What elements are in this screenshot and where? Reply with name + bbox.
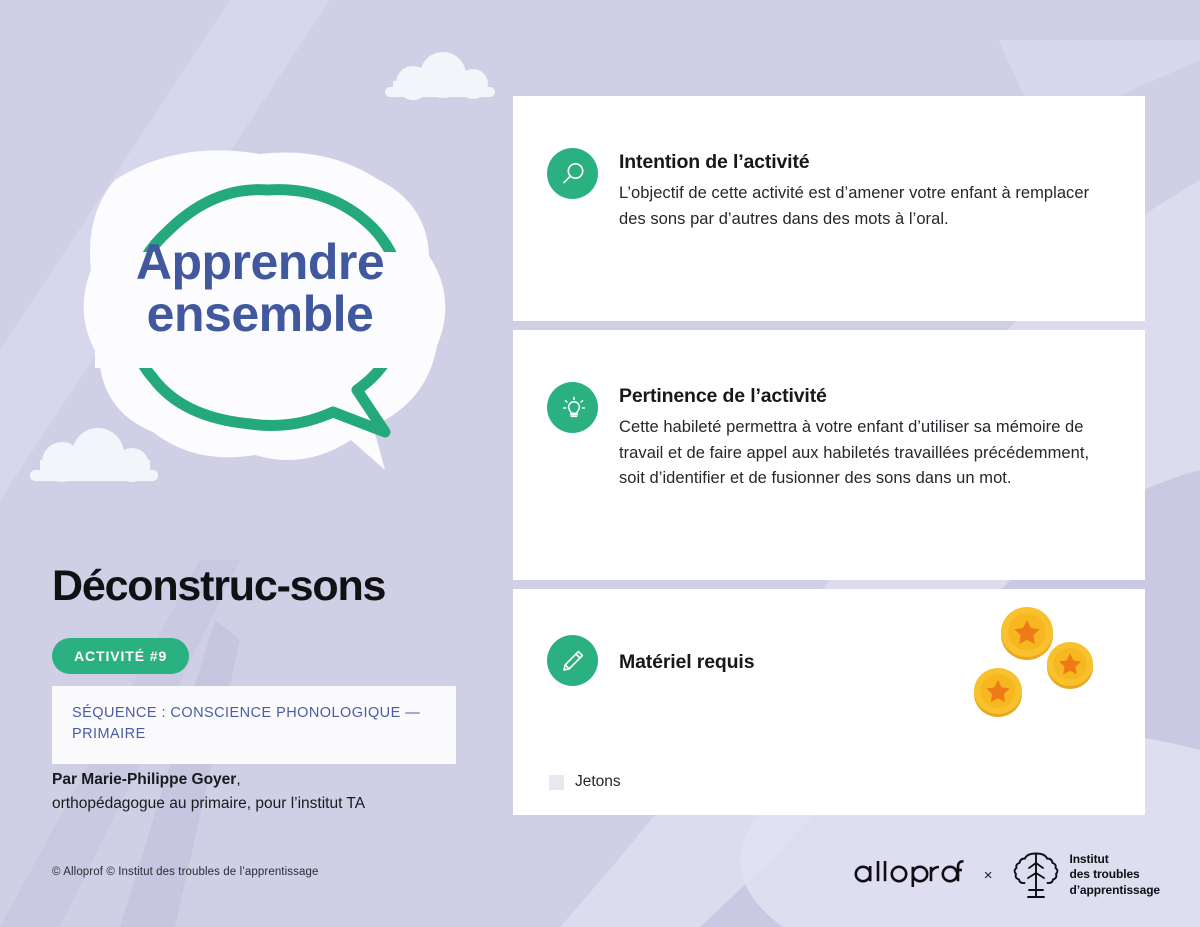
author-comma: , — [236, 771, 240, 788]
card-title: Pertinence de l’activité — [619, 385, 1105, 408]
ita-line-3: d’apprentissage — [1069, 883, 1160, 898]
left-panel: Apprendre ensemble Déconstruc-sons ACTIV… — [0, 0, 513, 927]
byline: Par Marie-Philippe Goyer, orthopédagogue… — [52, 768, 492, 816]
card-title: Intention de l’activité — [619, 151, 1105, 174]
sequence-box: SÉQUENCE : CONSCIENCE PHONOLOGIQUE — PRI… — [52, 686, 456, 764]
logo-line-1: Apprendre — [136, 236, 384, 288]
card-pertinence: Pertinence de l’activité Cette habileté … — [513, 330, 1145, 580]
pencil-icon — [547, 635, 598, 686]
card-intention: Intention de l’activité L’objectif de ce… — [513, 96, 1145, 321]
author-role: orthopédagogue au primaire, pour l’insti… — [52, 792, 492, 816]
card-text: Cette habileté permettra à votre enfant … — [619, 415, 1105, 492]
alloprof-logo — [852, 856, 964, 895]
cards-column: Intention de l’activité L’objectif de ce… — [513, 96, 1145, 815]
activity-number-badge: ACTIVITÉ #9 — [52, 638, 189, 674]
list-item: Jetons — [549, 773, 621, 791]
separator-x: × — [984, 867, 993, 884]
material-label: Jetons — [575, 773, 621, 791]
institut-ta-logo: Institut des troubles d’apprentissage — [1012, 849, 1160, 901]
lightbulb-icon — [547, 382, 598, 433]
author-line: Par Marie-Philippe Goyer, — [52, 768, 492, 792]
brain-tree-icon — [1012, 849, 1060, 901]
coins-illustration — [967, 605, 1097, 720]
page-title: Déconstruc-sons — [52, 564, 385, 609]
logo-line-2: ensemble — [147, 288, 374, 340]
checkbox-icon — [549, 775, 564, 790]
ita-line-1: Institut — [1069, 852, 1160, 867]
card-materiel: Matériel requis — [513, 589, 1145, 815]
author-name: Par Marie-Philippe Goyer — [52, 771, 236, 788]
material-list: Jetons — [549, 773, 621, 791]
copyright-notice: © Alloprof © Institut des troubles de l’… — [52, 866, 318, 878]
sequence-label: SÉQUENCE : CONSCIENCE PHONOLOGIQUE — PRI… — [72, 703, 436, 745]
ita-line-2: des troubles — [1069, 867, 1160, 882]
apprendre-ensemble-logo: Apprendre ensemble — [55, 140, 465, 470]
footer-logos: × Institut des troubles d’apprentissage — [852, 845, 1160, 905]
institut-ta-text: Institut des troubles d’apprentissage — [1069, 852, 1160, 898]
magnifier-icon — [547, 148, 598, 199]
card-text: L’objectif de cette activité est d’amene… — [619, 181, 1105, 232]
